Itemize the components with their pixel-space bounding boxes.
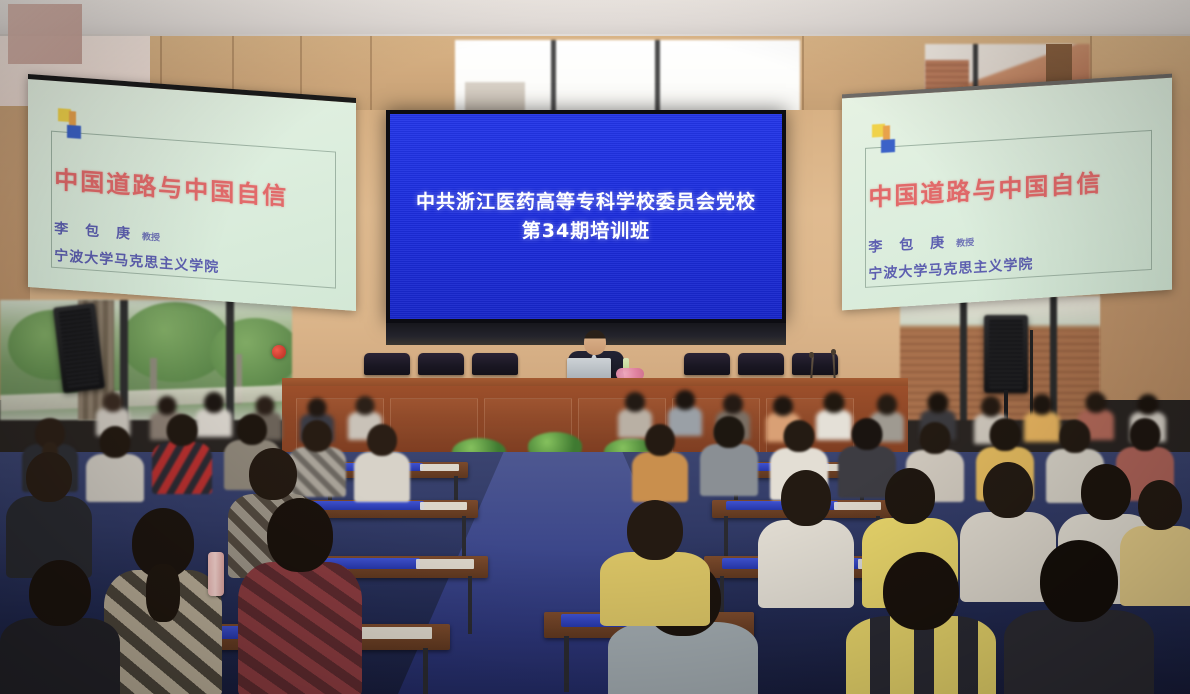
podium-chair [472, 353, 518, 375]
attendee [354, 424, 410, 498]
window-mullion [960, 296, 967, 420]
left-projection-screen: 中国道路与中国自信 李 包 庚教授 宁波大学马克思主义学院 [28, 74, 356, 311]
floor-speaker-right [984, 315, 1028, 393]
podium-chair [418, 353, 464, 375]
window-mullion [655, 40, 660, 118]
attendee [1120, 480, 1190, 600]
fire-alarm-bell [272, 345, 286, 359]
led-screen-surface: 中共浙江医药高等专科学校委员会党校 第34期培训班 [390, 114, 782, 319]
podium-chair [792, 353, 838, 375]
slide-decoration-icon [58, 108, 84, 140]
right-projection-screen: 中国道路与中国自信 李 包 庚教授 宁波大学马克思主义学院 [842, 74, 1172, 311]
slide-presenter-rank: 教授 [956, 238, 974, 249]
thermos-bottle [208, 552, 224, 596]
window-mullion [551, 40, 556, 118]
window-upper-daylight [455, 40, 800, 118]
laptop [567, 358, 611, 380]
attendee [104, 508, 222, 694]
wall-panel-seam [370, 36, 372, 118]
attendee [846, 552, 996, 694]
attendee [632, 424, 688, 498]
attendee [0, 560, 120, 694]
attendee [86, 426, 144, 498]
podium-chair [364, 353, 410, 375]
microphone-head [831, 349, 836, 355]
led-headline-line2: 第34期培训班 [522, 217, 650, 246]
podium-chair [738, 353, 784, 375]
attendee [700, 416, 758, 492]
led-headline-line1: 中共浙江医药高等专科学校委员会党校 [416, 188, 756, 217]
attendee [152, 414, 212, 490]
attendee [6, 452, 92, 572]
wall-panel-seam [802, 36, 804, 118]
wall-picture [8, 4, 82, 64]
microphone-head [809, 352, 814, 358]
slide-presenter-rank: 教授 [142, 233, 160, 244]
lecture-hall-photo: 中国道路与中国自信 李 包 庚教授 宁波大学马克思主义学院 中国道路与中国自信 … [0, 0, 1190, 694]
podium-chair [684, 353, 730, 375]
slide-decoration-icon [872, 122, 898, 154]
attendee [238, 498, 362, 694]
attendee [600, 500, 710, 620]
attendee [758, 470, 854, 602]
main-led-display: 中共浙江医药高等专科学校委员会党校 第34期培训班 [386, 110, 786, 323]
